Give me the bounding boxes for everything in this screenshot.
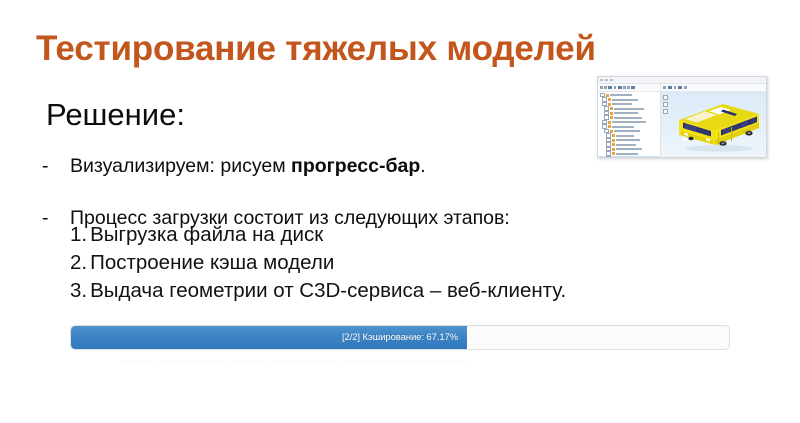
tree-node-label [612, 121, 646, 123]
viewport-toolbar [661, 84, 766, 92]
artifact [120, 360, 154, 364]
artifact [272, 360, 340, 364]
tree-node-label [612, 103, 632, 105]
tree-node-icon [612, 139, 615, 142]
toolbar-icon [623, 86, 626, 89]
tree-node-icon [608, 121, 611, 124]
tree-node-icon [610, 130, 613, 133]
bullet-text-emphasis: прогресс-бар [291, 155, 420, 177]
tree-node-label [614, 112, 638, 114]
bullet-text-plain: Визуализируем: рисуем [70, 155, 291, 177]
model-viewport[interactable] [661, 92, 766, 157]
tree-node-icon [608, 125, 611, 128]
toolbar-icon [663, 86, 666, 89]
toolbar-icon [668, 86, 672, 89]
toolbar-icon [678, 86, 682, 89]
tree-node-icon [606, 94, 609, 97]
artifact [346, 360, 466, 364]
window-menu-icon [610, 79, 613, 81]
step-number: 2. [70, 251, 87, 274]
tree-node-label [614, 108, 644, 110]
tree-node-icon [610, 116, 613, 119]
tree-toolbar [598, 84, 660, 92]
tree-node-label [612, 126, 634, 128]
tree-expand-icon[interactable] [606, 156, 611, 157]
tree-node-label [616, 153, 638, 155]
list-item: 2.Построение кэша модели [70, 249, 566, 277]
tree-node-label [614, 130, 640, 132]
cad-app-screenshot[interactable] [597, 76, 767, 158]
tree-node-label [614, 117, 642, 119]
tree-node-icon [612, 143, 615, 146]
viewport-panel [661, 84, 766, 157]
image-artifact-band [120, 360, 466, 364]
tree-node-icon [608, 103, 611, 106]
bullet-dash-marker: - [42, 204, 70, 232]
step-label: Построение кэша модели [90, 251, 334, 274]
thumbnail-body [598, 84, 766, 157]
window-menu-icon [600, 79, 603, 81]
step-label: Выгрузка файла на диск [90, 223, 323, 246]
tree-node-icon [610, 107, 613, 110]
list-item: 3.Выдача геометрии от C3D-сервиса – веб-… [70, 277, 566, 305]
step-label: Выдача геометрии от C3D-сервиса – веб-кл… [90, 279, 566, 302]
tree-node-label [616, 144, 636, 146]
model-tree-row[interactable] [599, 156, 659, 157]
tree-node-icon [612, 134, 615, 137]
model-tree-row[interactable] [599, 116, 659, 120]
tree-node-icon [612, 152, 615, 155]
toolbar-icon [631, 86, 635, 89]
tree-node-icon [612, 157, 615, 158]
trolleybus-model [665, 98, 763, 154]
bullet-text-suffix: . [420, 155, 425, 177]
slide-subtitle: Решение: [46, 97, 185, 133]
tree-node-label [612, 99, 638, 101]
model-tree-row[interactable] [599, 93, 659, 97]
bullet-list: - Визуализируем: рисуем прогресс-бар. - … [42, 152, 732, 232]
thumbnail-titlebar [598, 77, 766, 84]
toolbar-icon [618, 86, 622, 89]
tree-node-label [616, 139, 640, 141]
toolbar-icon [604, 86, 607, 89]
model-tree-row[interactable] [599, 120, 659, 124]
toolbar-icon [684, 86, 687, 89]
step-number: 1. [70, 223, 87, 246]
steps-list: 1.Выгрузка файла на диск 2.Построение кэ… [70, 221, 566, 305]
toolbar-icon [608, 86, 612, 89]
tree-node-icon [612, 148, 615, 151]
tree-node-icon [608, 98, 611, 101]
slide-canvas: Тестирование тяжелых моделей Решение: - … [0, 0, 800, 423]
progress-bar[interactable]: [2/2] Кэширование: 67.17% [2/2] Кэширова… [70, 325, 730, 350]
model-tree [598, 92, 660, 157]
toolbar-icon [614, 86, 617, 89]
model-tree-panel [598, 84, 661, 157]
bullet-dash-marker: - [42, 152, 70, 180]
model-tree-row[interactable] [599, 98, 659, 102]
bullet-text: Визуализируем: рисуем прогресс-бар. [70, 152, 426, 180]
artifact [232, 360, 266, 364]
toolbar-icon [627, 86, 630, 89]
list-item: 1.Выгрузка файла на диск [70, 221, 566, 249]
artifact [160, 360, 226, 364]
tree-node-label [616, 135, 634, 137]
window-menu-icon [605, 79, 608, 81]
toolbar-icon [674, 86, 677, 89]
tree-node-label [616, 148, 642, 150]
tree-node-icon [610, 112, 613, 115]
tree-node-label [610, 94, 632, 96]
toolbar-icon [600, 86, 603, 89]
step-number: 3. [70, 279, 87, 302]
page-title: Тестирование тяжелых моделей [36, 30, 596, 69]
